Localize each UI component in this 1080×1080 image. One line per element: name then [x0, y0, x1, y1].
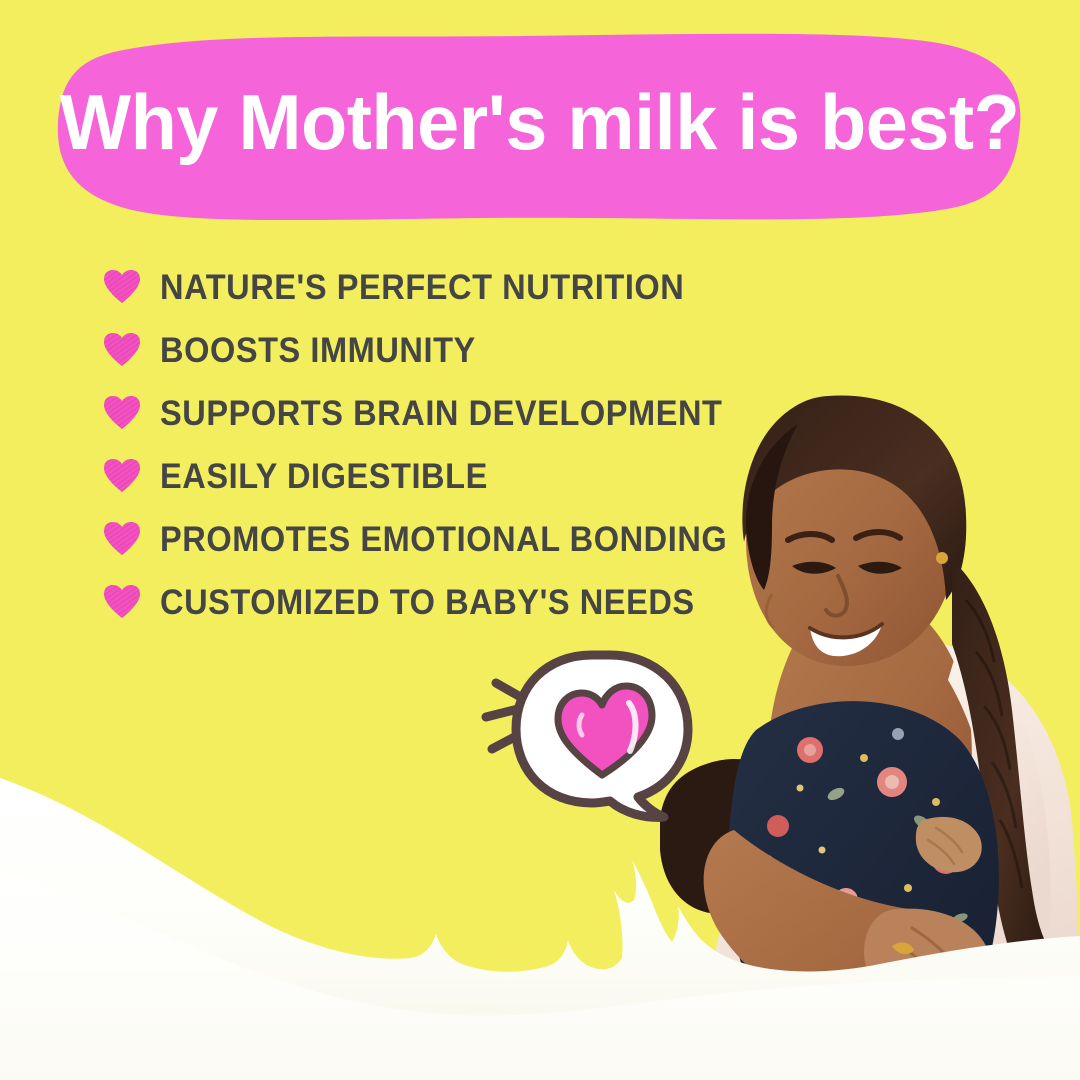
list-item-label: BOOSTS IMMUNITY [160, 333, 476, 368]
heart-icon [104, 522, 140, 556]
list-item: BOOSTS IMMUNITY [104, 319, 804, 382]
heart-icon [104, 396, 140, 430]
speech-bubble [478, 641, 700, 819]
list-item-label: PROMOTES EMOTIONAL BONDING [160, 522, 727, 557]
photo-illustration [660, 390, 1080, 1080]
speech-bubble-shape [478, 641, 700, 819]
list-item-label: CUSTOMIZED TO BABY'S NEEDS [160, 585, 695, 620]
heart-icon [104, 585, 140, 619]
list-item-label: NATURE'S PERFECT NUTRITION [160, 270, 684, 305]
poster-canvas: Why Mother's milk is best? NATURE'S PERF… [0, 0, 1080, 1080]
list-item-label: EASILY DIGESTIBLE [160, 459, 488, 494]
page-title: Why Mother's milk is best? [67, 28, 1013, 220]
heart-icon [104, 333, 140, 367]
mother-and-baby-photo [660, 390, 1080, 1080]
heart-icon [104, 270, 140, 304]
title-banner: Why Mother's milk is best? [52, 28, 1027, 220]
list-item: NATURE'S PERFECT NUTRITION [104, 256, 804, 319]
list-item-label: SUPPORTS BRAIN DEVELOPMENT [160, 396, 722, 431]
heart-icon [104, 459, 140, 493]
